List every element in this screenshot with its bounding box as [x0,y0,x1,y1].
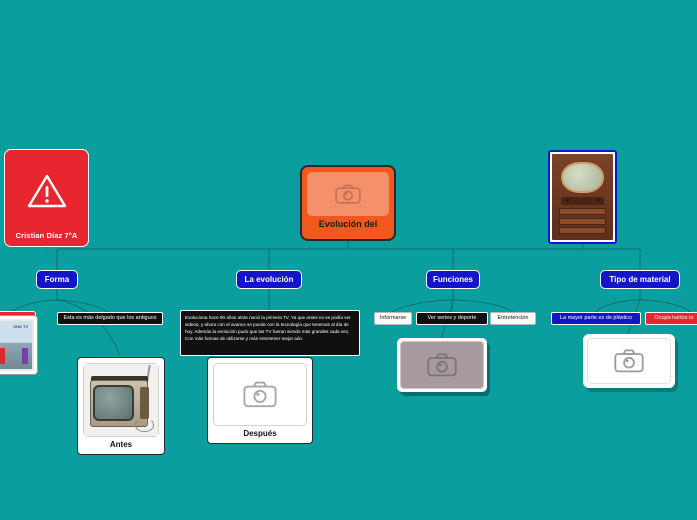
funciones-placeholder-card[interactable] [397,338,487,392]
camera-placeholder-icon [614,349,644,373]
evolucion-note-text[interactable]: Evoluciona hace 90 años atrás nació la p… [180,310,360,356]
category-button-funciones[interactable]: Funciones [426,270,480,289]
leaf-chip-ver-series-y-deporte[interactable]: Ver series y deporte [416,312,488,325]
despues-image-placeholder[interactable] [213,363,307,426]
leaf-chip-ocupa-hartos[interactable]: Ocupa hartos to [645,312,697,325]
camera-placeholder-icon [427,353,457,377]
modern-television-artwork: UHD TV [0,319,34,371]
despues-card[interactable]: Después [207,357,313,444]
category-button-la-evolucion[interactable]: La evolución [236,270,302,289]
antes-caption: Antes [110,440,132,449]
category-button-forma[interactable]: Forma [36,270,78,289]
category-button-tipo-de-material[interactable]: Tipo de material [600,270,680,289]
antes-card[interactable]: Antes [77,357,165,455]
crt-television-artwork [84,364,158,436]
hero-television-image-card[interactable] [548,150,617,244]
center-node-image-placeholder[interactable] [307,172,389,216]
center-node-label: Evolución del [319,219,378,229]
antes-image [83,363,159,437]
camera-placeholder-icon [335,184,361,204]
author-name: Cristian Díaz 7°A [16,231,78,240]
author-card[interactable]: Cristian Díaz 7°A [4,149,89,247]
clipped-modern-television-card[interactable]: UHD TV [0,315,38,375]
leaf-chip-entretencion[interactable]: Entretención [490,312,536,325]
warning-triangle-icon [26,172,68,210]
leaf-chip-informarse[interactable]: Informarse [374,312,412,325]
leaf-chip-forma-delgado[interactable]: Esta es más delgado que los antiguos [57,312,163,325]
funciones-image-placeholder[interactable] [400,341,484,389]
camera-placeholder-icon [243,381,277,408]
mindmap-canvas[interactable]: Cristian Díaz 7°A Evolución del Forma La… [0,0,697,520]
material-placeholder-card[interactable] [583,334,675,388]
center-node[interactable]: Evolución del [300,165,396,241]
vintage-television-artwork [552,154,613,240]
warning-icon-wrap [5,150,88,231]
material-image-placeholder[interactable] [587,338,671,384]
despues-caption: Después [243,429,276,438]
leaf-chip-mayor-parte-plastico[interactable]: La mayor parte es de plástico [551,312,641,325]
